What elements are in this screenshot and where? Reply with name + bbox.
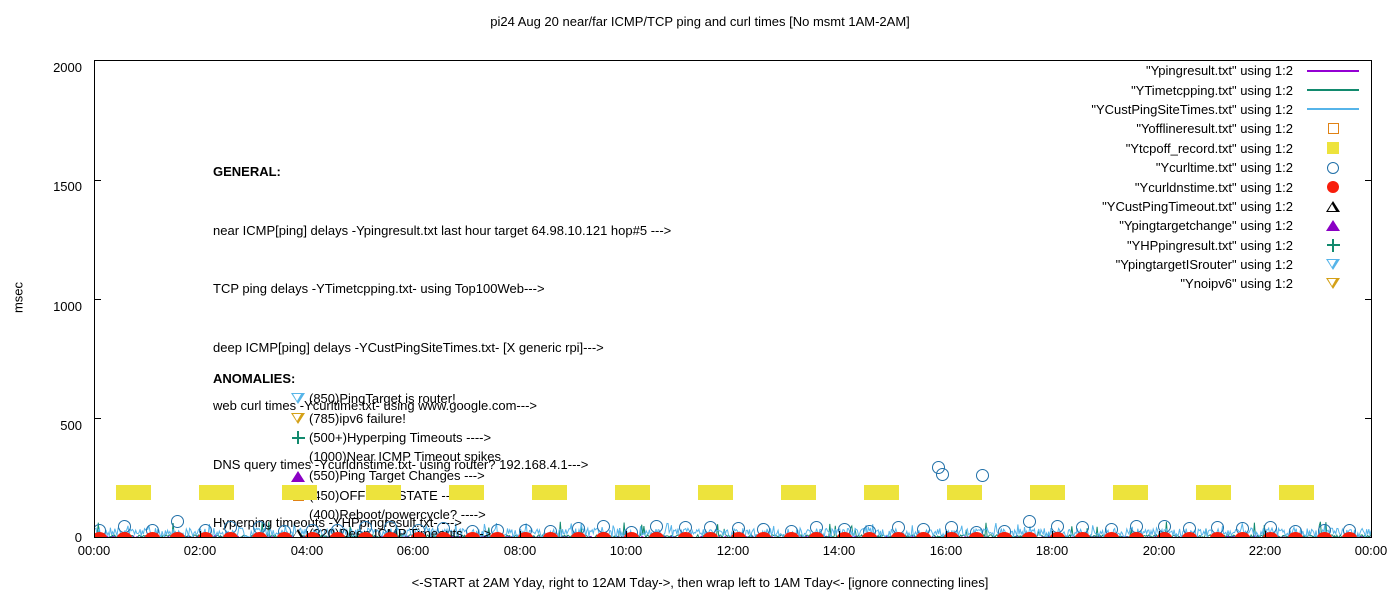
x-tick-mark <box>1052 531 1053 538</box>
legend-item: "Ycurldnstime.txt" using 1:2 <box>95 177 1372 196</box>
anomalies-annotation-block: ANOMALIES: (850)PingTarget is router! (7… <box>213 369 501 538</box>
x-tick-mark <box>307 531 308 538</box>
legend-key-triangle-up-open-icon <box>1293 201 1372 212</box>
x-tick-mark <box>1159 531 1160 538</box>
legend-label: "Ycurltime.txt" using 1:2 <box>1156 160 1293 175</box>
anomaly-row: (1000)Near ICMP Timeout spikes <box>213 447 501 466</box>
anomaly-label: (850)PingTarget is router! <box>309 389 456 408</box>
x-tick-label: 20:00 <box>1124 543 1194 558</box>
x-tick-mark <box>1265 531 1266 538</box>
legend-item: "Ypingtargetchange" using 1:2 <box>95 216 1372 235</box>
anomalies-header: ANOMALIES: <box>213 369 501 388</box>
legend-item: "Ypingresult.txt" using 1:2 <box>95 61 1372 80</box>
anomaly-label: (400)Reboot/powercycle? ----> <box>309 505 486 524</box>
legend: "Ypingresult.txt" using 1:2"YTimetcpping… <box>95 61 1372 294</box>
x-tick-label: 16:00 <box>911 543 981 558</box>
legend-label: "Ycurldnstime.txt" using 1:2 <box>1135 180 1293 195</box>
legend-key-triangle-up-filled-icon <box>1293 220 1372 231</box>
legend-item: "Ynoipv6" using 1:2 <box>95 274 1372 293</box>
x-tick-mark <box>1371 531 1372 538</box>
legend-key-line-icon <box>1293 70 1372 72</box>
x-axis-caption: <-START at 2AM Yday, right to 12AM Tday-… <box>0 575 1400 590</box>
y-axis-label: msec <box>11 268 26 328</box>
x-tick-mark <box>946 531 947 538</box>
x-tick-mark <box>626 531 627 538</box>
x-tick-label: 04:00 <box>272 543 342 558</box>
legend-label: "Ypingtargetchange" using 1:2 <box>1119 218 1293 233</box>
legend-key-triangle-down-open-icon <box>1293 259 1372 270</box>
y-tick-label-1000: 1000 <box>12 300 82 313</box>
anomaly-label: (320)Deep ICMP Timeouts ----> <box>309 524 491 538</box>
x-tick-mark <box>200 531 201 538</box>
y-tick-label-2000: 2000 <box>12 61 82 74</box>
legend-item: "YCustPingSiteTimes.txt" using 1:2 <box>95 100 1372 119</box>
x-tick-label: 22:00 <box>1230 543 1300 558</box>
legend-key-circle-open-icon <box>1293 162 1372 174</box>
anomaly-row: (785)ipv6 failure! <box>213 409 501 428</box>
legend-item: "Yofflineresult.txt" using 1:2 <box>95 119 1372 138</box>
square-open-icon <box>287 490 309 501</box>
general-line: deep ICMP[ping] delays -YCustPingSiteTim… <box>213 338 671 358</box>
legend-key-square-open-icon <box>1293 123 1372 134</box>
x-tick-label: 10:00 <box>591 543 661 558</box>
triangle-up-filled-icon <box>287 471 309 482</box>
chart-title: pi24 Aug 20 near/far ICMP/TCP ping and c… <box>0 14 1400 29</box>
legend-label: "Ytcpoff_record.txt" using 1:2 <box>1126 141 1293 156</box>
legend-label: "Yofflineresult.txt" using 1:2 <box>1136 121 1293 136</box>
anomaly-row: (450)OFFLINE STATE -----> <box>213 486 501 505</box>
x-tick-label: 06:00 <box>378 543 448 558</box>
plot-area: GENERAL: near ICMP[ping] delays -Ypingre… <box>94 60 1372 538</box>
legend-key-line-icon <box>1293 89 1372 91</box>
legend-item: "YHPpingresult.txt" using 1:2 <box>95 236 1372 255</box>
legend-item: "Ytcpoff_record.txt" using 1:2 <box>95 139 1372 158</box>
anomaly-label: (785)ipv6 failure! <box>309 409 406 428</box>
x-tick-label: 00:00 <box>1336 543 1400 558</box>
x-tick-label: 18:00 <box>1017 543 1087 558</box>
legend-label: "Ynoipv6" using 1:2 <box>1180 276 1293 291</box>
anomaly-row: (550)Ping Target Changes ---> <box>213 466 501 485</box>
anomaly-label: (550)Ping Target Changes ---> <box>309 466 485 485</box>
triangle-up-open-icon <box>287 529 309 538</box>
x-tick-mark <box>733 531 734 538</box>
anomaly-row: (850)PingTarget is router! <box>213 389 501 408</box>
legend-label: "YCustPingTimeout.txt" using 1:2 <box>1102 199 1293 214</box>
x-tick-label: 02:00 <box>165 543 235 558</box>
triangle-down-icon <box>287 413 309 424</box>
anomaly-row: (500+)Hyperping Timeouts ----> <box>213 428 501 447</box>
legend-key-line-icon <box>1293 108 1372 110</box>
anomaly-label: (450)OFFLINE STATE -----> <box>309 486 471 505</box>
legend-label: "YTimetcpping.txt" using 1:2 <box>1131 83 1293 98</box>
legend-key-triangle-down-open2-icon <box>1293 278 1372 289</box>
x-tick-label: 08:00 <box>485 543 555 558</box>
legend-label: "YpingtargetISrouter" using 1:2 <box>1116 257 1293 272</box>
legend-item: "YCustPingTimeout.txt" using 1:2 <box>95 197 1372 216</box>
anomaly-label: (1000)Near ICMP Timeout spikes <box>309 447 501 466</box>
triangle-down-icon <box>287 393 309 404</box>
anomaly-label: (500+)Hyperping Timeouts ----> <box>309 428 491 447</box>
x-tick-mark <box>520 531 521 538</box>
legend-item: "YpingtargetISrouter" using 1:2 <box>95 255 1372 274</box>
x-tick-mark <box>413 531 414 538</box>
legend-key-square-filled-icon <box>1293 142 1372 154</box>
legend-key-plus-icon <box>1293 239 1372 252</box>
y-tick-label-1500: 1500 <box>12 180 82 193</box>
y-tick-label-500: 500 <box>12 419 82 432</box>
x-tick-mark <box>94 531 95 538</box>
anomaly-row: (400)Reboot/powercycle? ----> <box>213 505 501 524</box>
plus-icon <box>287 431 309 444</box>
legend-key-circle-filled-icon <box>1293 181 1372 193</box>
x-tick-label: 00:00 <box>59 543 129 558</box>
legend-item: "YTimetcpping.txt" using 1:2 <box>95 80 1372 99</box>
x-tick-label: 14:00 <box>804 543 874 558</box>
legend-label: "Ypingresult.txt" using 1:2 <box>1146 63 1293 78</box>
x-tick-mark <box>839 531 840 538</box>
legend-label: "YHPpingresult.txt" using 1:2 <box>1127 238 1293 253</box>
x-tick-label: 12:00 <box>698 543 768 558</box>
anomaly-row: (320)Deep ICMP Timeouts ----> <box>213 524 501 538</box>
legend-item: "Ycurltime.txt" using 1:2 <box>95 158 1372 177</box>
legend-label: "YCustPingSiteTimes.txt" using 1:2 <box>1091 102 1293 117</box>
